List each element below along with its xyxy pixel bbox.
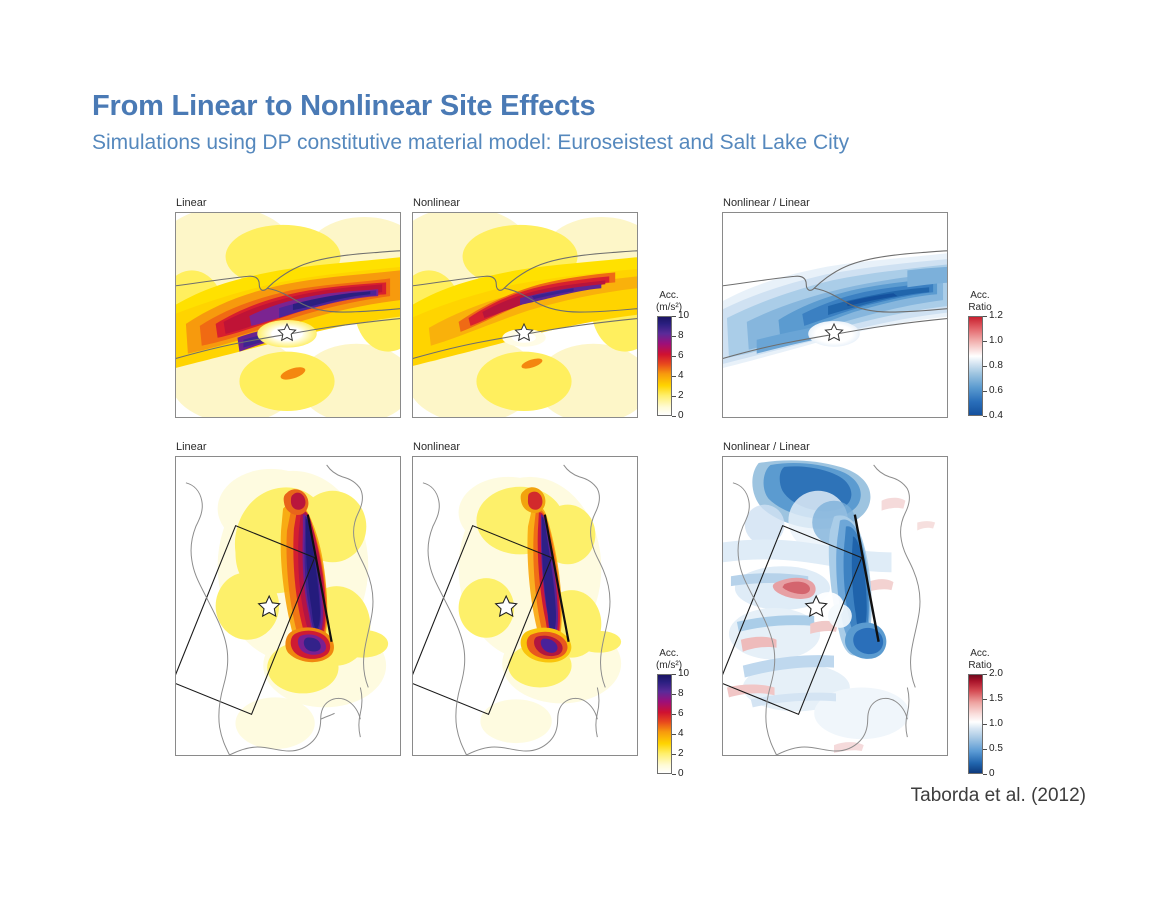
tick-label: 0.5 — [989, 744, 1003, 754]
panel-label: Nonlinear — [413, 197, 460, 209]
map-frame[interactable] — [412, 456, 638, 756]
tick-label: 0 — [678, 411, 684, 421]
colorbar-ramp — [968, 674, 983, 774]
map-saltlake-nonlinear — [413, 457, 637, 755]
tick-label: 0.6 — [989, 386, 1003, 396]
tick-label: 8 — [678, 331, 684, 341]
tick-label: 0 — [678, 769, 684, 779]
colorbar-ramp — [657, 316, 672, 416]
colorbar-ratio-bottom: Acc. Ratio 2.0 1.5 1.0 0.5 0 — [968, 648, 1003, 774]
colorbar-ticks: 1.2 1.0 0.8 0.6 0.4 — [983, 316, 1023, 416]
colorbar-title-line1: Acc. — [659, 290, 678, 301]
tick-label: 2.0 — [989, 669, 1003, 679]
tick-label: 6 — [678, 709, 684, 719]
map-saltlake-linear — [176, 457, 400, 755]
citation-credit: Taborda et al. (2012) — [911, 785, 1086, 807]
panel-label: Linear — [176, 441, 207, 453]
tick-label: 1.2 — [989, 311, 1003, 321]
map-euroseistest-linear — [176, 213, 400, 417]
tick-label: 10 — [678, 669, 689, 679]
tick-label: 4 — [678, 729, 684, 739]
colorbar-acc-bottom: Acc. (m/s²) 10 8 6 4 2 0 — [657, 648, 692, 774]
colorbar-ticks: 10 8 6 4 2 0 — [672, 674, 712, 774]
tick-label: 10 — [678, 311, 689, 321]
colorbar-ramp — [968, 316, 983, 416]
tick-label: 6 — [678, 351, 684, 361]
colorbar-ramp — [657, 674, 672, 774]
tick-label: 4 — [678, 371, 684, 381]
colorbar-title-line1: Acc. — [659, 648, 678, 659]
colorbar-title-line1: Acc. — [970, 648, 989, 659]
colorbar-ticks: 10 8 6 4 2 0 — [672, 316, 712, 416]
map-euroseistest-nonlinear — [413, 213, 637, 417]
map-frame[interactable] — [722, 212, 948, 418]
panel-label: Nonlinear — [413, 441, 460, 453]
tick-label: 0.4 — [989, 411, 1003, 421]
map-frame[interactable] — [722, 456, 948, 756]
colorbar-ratio-top: Acc. Ratio 1.2 1.0 0.8 0.6 0.4 — [968, 290, 1003, 416]
tick-label: 8 — [678, 689, 684, 699]
map-frame[interactable] — [175, 212, 401, 418]
tick-label: 1.5 — [989, 694, 1003, 704]
panel-label: Nonlinear / Linear — [723, 197, 810, 209]
panel-label: Linear — [176, 197, 207, 209]
tick-label: 1.0 — [989, 719, 1003, 729]
colorbar-ticks: 2.0 1.5 1.0 0.5 0 — [983, 674, 1023, 774]
colorbar-acc-top: Acc. (m/s²) 10 8 6 4 2 0 — [657, 290, 692, 416]
map-frame[interactable] — [412, 212, 638, 418]
tick-label: 1.0 — [989, 336, 1003, 346]
tick-label: 0 — [989, 769, 995, 779]
map-saltlake-ratio — [723, 457, 947, 755]
tick-label: 2 — [678, 749, 684, 759]
tick-label: 0.8 — [989, 361, 1003, 371]
colorbar-title-line1: Acc. — [970, 290, 989, 301]
figure-panel-grid: Linear — [0, 0, 1164, 899]
map-frame[interactable] — [175, 456, 401, 756]
map-euroseistest-ratio — [723, 213, 947, 417]
tick-label: 2 — [678, 391, 684, 401]
panel-label: Nonlinear / Linear — [723, 441, 810, 453]
